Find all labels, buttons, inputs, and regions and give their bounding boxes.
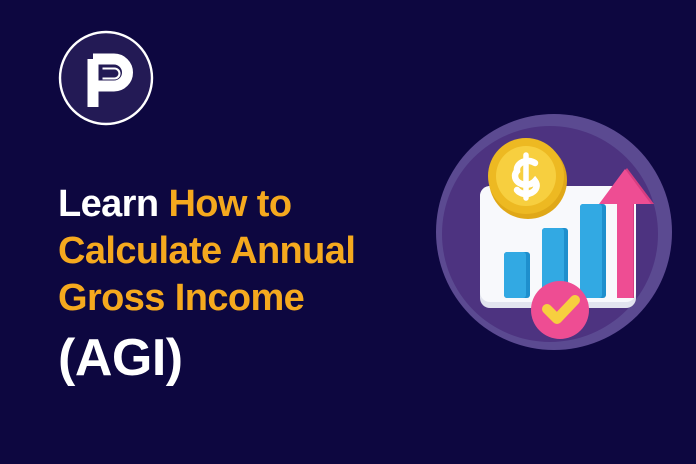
bar-3 xyxy=(580,204,602,298)
page-title: Learn How to Calculate Annual Gross Inco… xyxy=(58,181,438,388)
growth-chart-illustration xyxy=(434,112,674,352)
headline-line-3: Gross Income xyxy=(58,275,438,322)
headline-line-1-white: Learn xyxy=(58,183,168,225)
banner-root: Learn How to Calculate Annual Gross Inco… xyxy=(0,0,696,464)
logo[interactable] xyxy=(57,29,155,127)
check-badge-icon xyxy=(531,281,589,339)
letter-p-monogram-icon xyxy=(57,29,155,127)
headline-line-1: Learn How to xyxy=(58,181,438,228)
headline-acronym: (AGI) xyxy=(58,328,438,388)
headline-line-1-gold: How to xyxy=(168,183,291,225)
bar-1 xyxy=(504,252,526,298)
headline-line-2: Calculate Annual xyxy=(58,228,438,275)
